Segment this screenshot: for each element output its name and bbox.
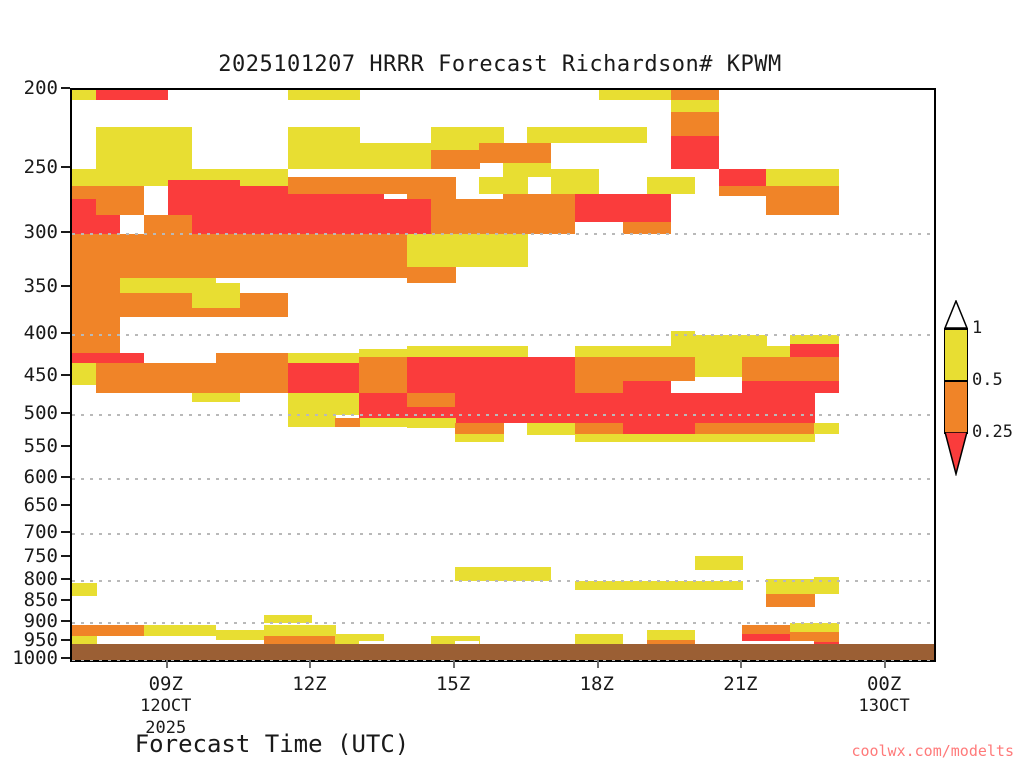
x-axis-tick [740,660,742,668]
y-axis-tick [61,166,70,168]
x-tick-time: 15Z [436,673,470,695]
y-axis-tick [61,445,70,447]
y-axis-tick [61,332,70,334]
x-axis-tick-label: 12Z [292,673,326,695]
x-tick-time: 12Z [292,673,326,695]
y-axis-tick-label: 450 [24,364,58,386]
colorbar-tick [944,328,968,330]
y-axis-tick-label: 400 [24,322,58,344]
y-axis-tick-label: 700 [24,521,58,543]
y-axis-tick [61,476,70,478]
y-axis-tick [61,231,70,233]
x-axis-tick [309,660,311,668]
y-axis-tick [61,639,70,641]
watermark: coolwx.com/modelts [851,742,1014,760]
y-axis-tick-label: 800 [24,568,58,590]
x-tick-date: 13OCT [859,695,910,717]
y-axis-tick [61,374,70,376]
y-axis: 2002503003504004505005506006507007508008… [0,88,1024,658]
colorbar-tick-label: 1 [972,318,982,338]
colorbar-tick-label: 0.25 [972,422,1013,442]
colorbar-segment[interactable] [944,380,968,432]
y-axis-tick-label: 550 [24,435,58,457]
y-axis-tick-label: 300 [24,221,58,243]
x-axis-tick-label: 15Z [436,673,470,695]
y-axis-tick-label: 350 [24,275,58,297]
colorbar-tick-label: 0.5 [972,370,1003,390]
x-axis-tick-label: 18Z [580,673,614,695]
y-axis-tick [61,285,70,287]
x-tick-time: 09Z [140,673,191,695]
y-axis-tick [61,531,70,533]
x-axis-tick [884,660,886,668]
x-tick-time: 00Z [859,673,910,695]
chart-canvas: 2025101207 HRRR Forecast Richardson# KPW… [0,0,1024,768]
colorbar-tick [944,380,968,382]
x-tick-date: 12OCT [140,695,191,717]
colorbar[interactable]: 10.50.25 [944,300,1024,480]
x-axis-tick [453,660,455,668]
y-axis-tick [61,504,70,506]
x-axis-tick [166,660,168,668]
y-axis-tick-label: 750 [24,545,58,567]
y-axis-tick-label: 200 [24,77,58,99]
x-tick-time: 18Z [580,673,614,695]
y-axis-tick-label: 650 [24,494,58,516]
y-axis-tick-label: 850 [24,589,58,611]
colorbar-over-arrow-outline [944,300,968,328]
colorbar-under-arrow [944,432,968,476]
x-axis-tick [597,660,599,668]
y-axis-tick [61,620,70,622]
x-tick-time: 21Z [723,673,757,695]
y-axis-tick-label: 1000 [12,647,58,669]
y-axis-tick [61,412,70,414]
y-axis-tick-label: 600 [24,466,58,488]
x-axis-tick-label: 00Z13OCT [859,673,910,717]
y-axis-tick [61,578,70,580]
y-axis-tick [61,87,70,89]
chart-title: 2025101207 HRRR Forecast Richardson# KPW… [0,52,1000,77]
colorbar-segment[interactable] [944,328,968,380]
y-axis-tick [61,599,70,601]
y-axis-tick [61,555,70,557]
y-axis-tick-label: 500 [24,402,58,424]
x-axis-title: Forecast Time (UTC) [0,730,784,758]
y-axis-tick-label: 250 [24,156,58,178]
x-axis-tick-label: 21Z [723,673,757,695]
y-axis-tick [61,657,70,659]
